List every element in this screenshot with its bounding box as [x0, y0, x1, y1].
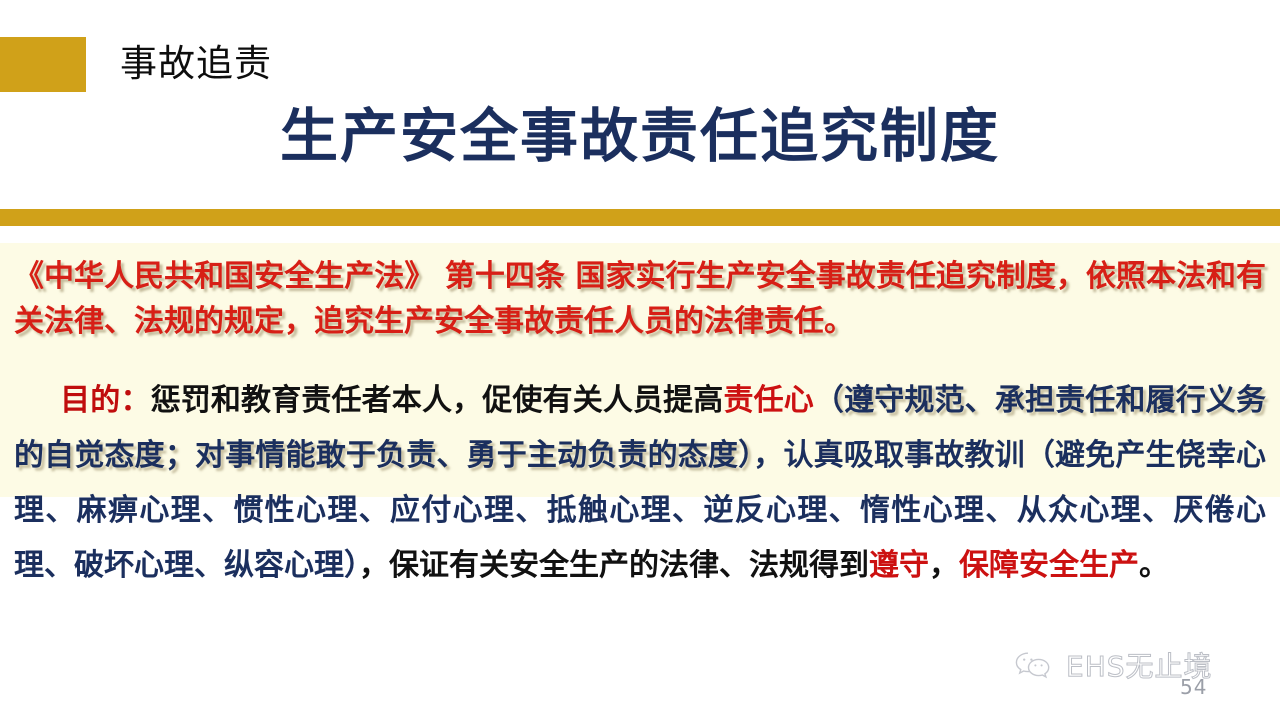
- purpose-segment-8: ，: [929, 548, 959, 583]
- kicker-accent-swatch: [0, 37, 86, 92]
- purpose-paragraph: 目的：惩罚和教育责任者本人，促使有关人员提高责任心（遵守规范、承担责任和履行义务…: [0, 373, 1280, 593]
- slide-canvas: 事故追责 生产安全事故责任追究制度 《中华人民共和国安全生产法》 第十四条 国家…: [0, 0, 1280, 720]
- purpose-label: 目的：: [60, 383, 151, 418]
- statute-clause-part1: 国家实行生产安全事故责任追究制度: [575, 259, 1055, 294]
- purpose-segment-1: 惩罚和教育责任者本人，促使有关人员提高: [151, 383, 724, 418]
- page-title: 生产安全事故责任追究制度: [0, 103, 1280, 169]
- purpose-segment-10: 。: [1139, 548, 1169, 583]
- gold-divider-rule: [0, 209, 1280, 226]
- purpose-highlight-responsibility: 责任心: [723, 383, 813, 418]
- page-number: 54: [1180, 676, 1207, 698]
- slide-kicker: 事故追责: [120, 36, 272, 91]
- wechat-icon: [1014, 650, 1060, 684]
- statute-law-name: 《中华人民共和国安全生产法》: [14, 259, 434, 294]
- purpose-highlight-safeguard: 保障安全生产: [959, 548, 1139, 583]
- statute-paragraph: 《中华人民共和国安全生产法》 第十四条 国家实行生产安全事故责任追究制度，依照本…: [0, 254, 1280, 344]
- purpose-segment-6: ，保证有关安全生产的法律、法规得到: [359, 548, 869, 583]
- statute-article: 第十四条: [445, 259, 565, 294]
- purpose-segment-4: ，认真吸取事故教训（: [753, 438, 1055, 473]
- purpose-highlight-comply: 遵守: [869, 548, 929, 583]
